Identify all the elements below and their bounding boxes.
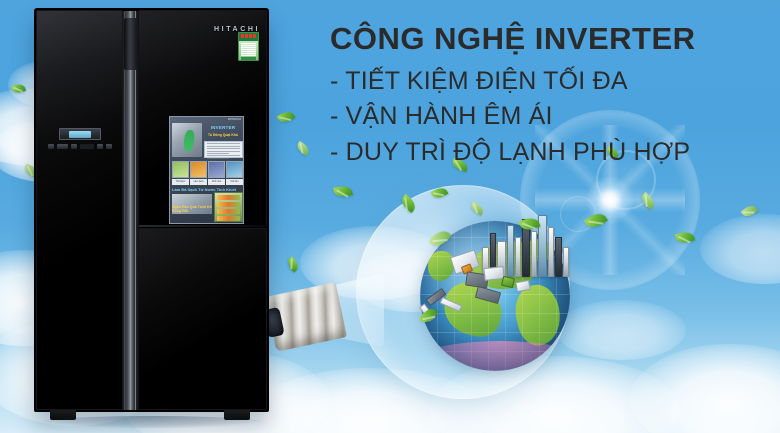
energy-star-dots [239,33,258,38]
sticker-subtitle: Tủ Đông Quạt Khô [204,133,242,137]
banner-canvas: HITACHI HITACHI INVERTER T [0,0,780,433]
control-button[interactable] [80,144,94,149]
handle-notch [124,18,137,70]
control-panel-buttons[interactable] [48,143,114,150]
building [548,227,554,277]
feature-icon [190,161,207,178]
marketing-copy: CÔNG NGHỆ INVERTER - TIẾT KIỆM ĐIỆN TỐI … [330,22,770,170]
control-button[interactable] [57,144,68,149]
feature-item: - TIẾT KIỆM ĐIỆN TỐI ĐA [330,64,770,100]
sticker-captions: Tiết kiệm Làm lạnh Khử mùi Giữ ẩm [172,179,243,185]
promo-sticker: HITACHI INVERTER Tủ Đông Quạt Khô Tiết k… [169,116,244,224]
caption: Tiết kiệm [172,179,189,185]
sticker-crisper-drawer [214,192,243,222]
globe-glow [420,341,570,371]
sticker-brand: HITACHI [228,118,241,121]
feature-list: - TIẾT KIỆM ĐIỆN TỐI ĐA - VẬN HÀNH ÊM ÁI… [330,64,770,171]
landmass [428,251,454,281]
building [555,237,562,277]
control-button[interactable] [97,144,103,149]
caption: Giữ ẩm [226,179,243,185]
feature-icon [226,161,243,178]
sticker-feature-icons [172,161,243,178]
door-seam [138,225,267,227]
sticker-footer-text: Ngăn Rau Quả Tươi Kế Rộng Rãi [172,205,212,214]
right-lower-drawer[interactable] [138,228,267,410]
light-bulb [270,185,610,433]
feature-icon [208,161,225,178]
door-control-panel[interactable] [59,128,101,140]
sticker-title: INVERTER [204,125,242,131]
feature-item: - VẬN HÀNH ÊM ÁI [330,99,770,135]
energy-label-footer [241,57,256,61]
building [507,225,514,277]
energy-label-header [239,33,258,41]
page-title: CÔNG NGHỆ INVERTER [330,22,770,57]
control-button[interactable] [71,144,77,149]
caption: Làm lạnh [190,179,207,185]
handle-seam [124,11,125,410]
ground-shadow [40,416,264,428]
left-door[interactable] [36,10,123,410]
control-button[interactable] [48,144,54,149]
refrigerator: HITACHI HITACHI INVERTER T [34,8,269,420]
building [531,231,537,277]
building [515,237,521,277]
control-button[interactable] [106,144,112,149]
feature-icon [172,161,189,178]
feature-item: - DUY TRÌ ĐỘ LẠNH PHÙ HỢP [330,135,770,171]
control-panel-display [69,131,91,138]
sticker-text-block [204,141,243,158]
sticker-hero-image [172,123,202,157]
caption: Khử mùi [208,179,225,185]
energy-rating-label [238,32,259,61]
energy-label-body [241,43,256,56]
building [563,247,569,277]
handle-seam [135,11,136,410]
